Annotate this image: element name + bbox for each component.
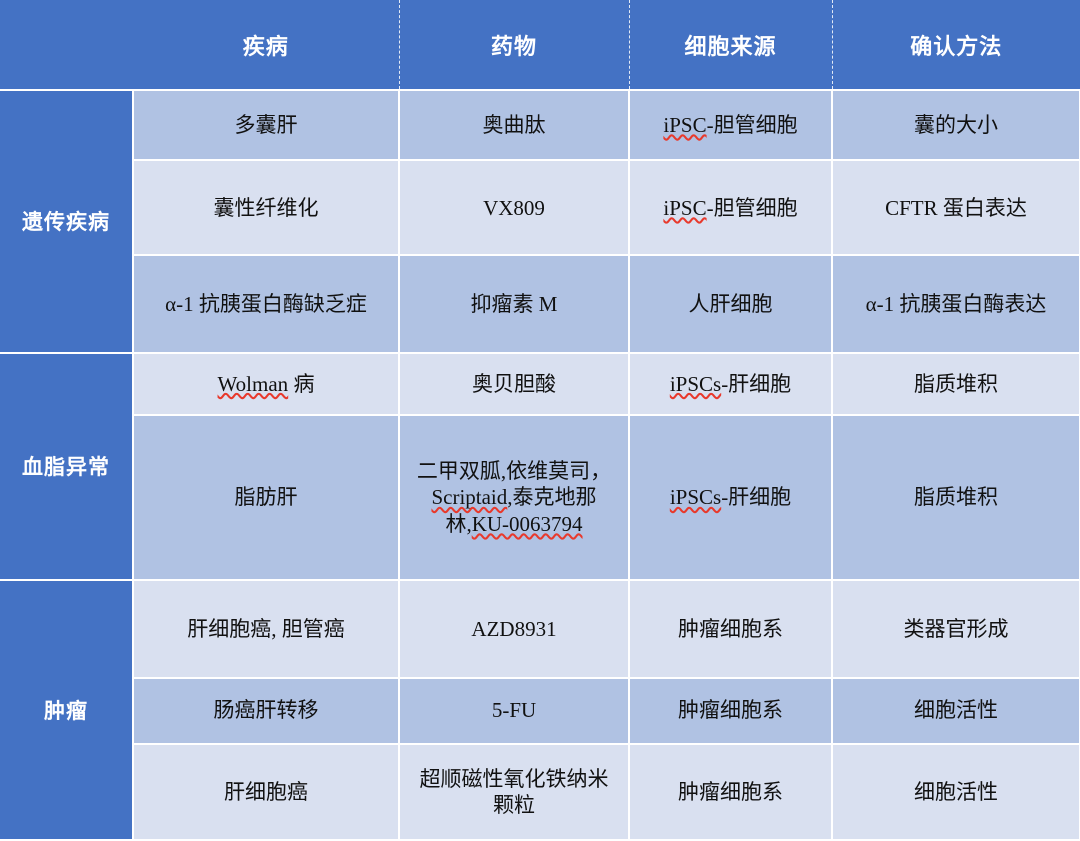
- cell-cell-source: iPSC-胆管细胞: [629, 90, 832, 160]
- column-header-drug: 药物: [399, 0, 629, 90]
- drug-spellcheck-text-2: KU-0063794: [472, 512, 583, 536]
- cell-source-rest: -肝细胞: [721, 485, 791, 509]
- cell-drug: 5-FU: [399, 678, 629, 744]
- column-header-disease: 疾病: [133, 0, 399, 90]
- cell-disease: 肝细胞癌, 胆管癌: [133, 580, 399, 677]
- cell-confirmation: 细胞活性: [832, 678, 1080, 744]
- cell-confirmation: CFTR 蛋白表达: [832, 160, 1080, 255]
- cell-cell-source: iPSCs-肝细胞: [629, 415, 832, 580]
- cell-source-rest: -胆管细胞: [707, 113, 798, 137]
- cell-confirmation: 细胞活性: [832, 744, 1080, 840]
- cell-disease: 脂肪肝: [133, 415, 399, 580]
- column-header-confirmation-method: 确认方法: [832, 0, 1080, 90]
- disease-drug-table: 疾病 药物 细胞来源 确认方法 遗传疾病 多囊肝 奥曲肽 iPSC-胆管细胞 囊…: [0, 0, 1080, 841]
- cell-cell-source: 肿瘤细胞系: [629, 580, 832, 677]
- table-row: 肿瘤 肝细胞癌, 胆管癌 AZD8931 肿瘤细胞系 类器官形成: [0, 580, 1080, 677]
- cell-cell-source: iPSCs-肝细胞: [629, 353, 832, 415]
- disease-spellcheck-text: Wolman: [218, 372, 289, 396]
- cell-disease: Wolman 病: [133, 353, 399, 415]
- cell-source-rest: -胆管细胞: [707, 196, 798, 220]
- header-corner-spacer: [0, 0, 133, 90]
- cell-cell-source: 肿瘤细胞系: [629, 678, 832, 744]
- cell-disease: 肝细胞癌: [133, 744, 399, 840]
- cell-drug: 二甲双胍,依维莫司，Scriptaid,泰克地那林,KU-0063794: [399, 415, 629, 580]
- table-row: 肠癌肝转移 5-FU 肿瘤细胞系 细胞活性: [0, 678, 1080, 744]
- table-row: 血脂异常 Wolman 病 奥贝胆酸 iPSCs-肝细胞 脂质堆积: [0, 353, 1080, 415]
- cell-drug: 奥贝胆酸: [399, 353, 629, 415]
- category-cell-dyslipidemia: 血脂异常: [0, 353, 133, 581]
- cell-source-spellcheck-text: iPSC: [663, 113, 706, 137]
- cell-confirmation: 类器官形成: [832, 580, 1080, 677]
- cell-drug: AZD8931: [399, 580, 629, 677]
- cell-confirmation: 脂质堆积: [832, 415, 1080, 580]
- drug-part-1: 二甲双胍,依维莫司，: [417, 459, 611, 483]
- cell-drug: VX809: [399, 160, 629, 255]
- table-row: 遗传疾病 多囊肝 奥曲肽 iPSC-胆管细胞 囊的大小: [0, 90, 1080, 160]
- cell-source-spellcheck-text: iPSCs: [670, 485, 721, 509]
- cell-drug: 奥曲肽: [399, 90, 629, 160]
- cell-disease: 肠癌肝转移: [133, 678, 399, 744]
- cell-drug: 超顺磁性氧化铁纳米颗粒: [399, 744, 629, 840]
- table-header: 疾病 药物 细胞来源 确认方法: [0, 0, 1080, 90]
- disease-rest: 病: [288, 372, 314, 396]
- table-container: 疾病 药物 细胞来源 确认方法 遗传疾病 多囊肝 奥曲肽 iPSC-胆管细胞 囊…: [0, 0, 1080, 841]
- drug-spellcheck-text-1: Scriptaid: [431, 485, 507, 509]
- cell-cell-source: iPSC-胆管细胞: [629, 160, 832, 255]
- header-row: 疾病 药物 细胞来源 确认方法: [0, 0, 1080, 90]
- table-row: 囊性纤维化 VX809 iPSC-胆管细胞 CFTR 蛋白表达: [0, 160, 1080, 255]
- cell-disease: 多囊肝: [133, 90, 399, 160]
- cell-disease: α-1 抗胰蛋白酶缺乏症: [133, 255, 399, 352]
- cell-source-spellcheck-text: iPSCs: [670, 372, 721, 396]
- cell-source-spellcheck-text: iPSC: [663, 196, 706, 220]
- category-cell-tumor: 肿瘤: [0, 580, 133, 840]
- cell-confirmation: 脂质堆积: [832, 353, 1080, 415]
- cell-confirmation: α-1 抗胰蛋白酶表达: [832, 255, 1080, 352]
- table-row: 脂肪肝 二甲双胍,依维莫司，Scriptaid,泰克地那林,KU-0063794…: [0, 415, 1080, 580]
- column-header-cell-source: 细胞来源: [629, 0, 832, 90]
- cell-drug: 抑瘤素 M: [399, 255, 629, 352]
- cell-cell-source: 人肝细胞: [629, 255, 832, 352]
- table-row: α-1 抗胰蛋白酶缺乏症 抑瘤素 M 人肝细胞 α-1 抗胰蛋白酶表达: [0, 255, 1080, 352]
- cell-confirmation: 囊的大小: [832, 90, 1080, 160]
- category-cell-genetic-disease: 遗传疾病: [0, 90, 133, 353]
- table-row: 肝细胞癌 超顺磁性氧化铁纳米颗粒 肿瘤细胞系 细胞活性: [0, 744, 1080, 840]
- cell-source-rest: -肝细胞: [721, 372, 791, 396]
- table-body: 遗传疾病 多囊肝 奥曲肽 iPSC-胆管细胞 囊的大小 囊性纤维化 VX809 …: [0, 90, 1080, 840]
- cell-cell-source: 肿瘤细胞系: [629, 744, 832, 840]
- cell-disease: 囊性纤维化: [133, 160, 399, 255]
